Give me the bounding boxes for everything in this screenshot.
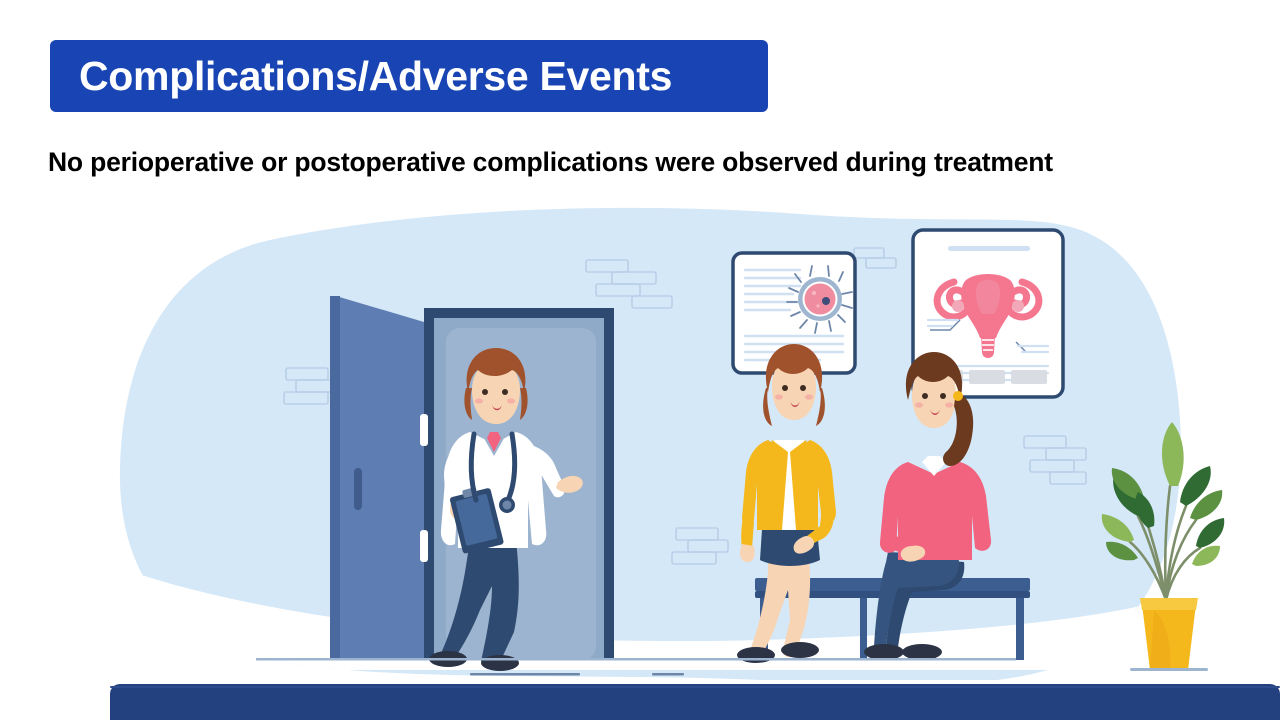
body-paragraph: No perioperative or postoperative compli… [48,146,1123,180]
slide-root: Complications/Adverse Events No perioper… [0,0,1280,720]
illustration [0,200,1280,680]
footer-bar-highlight [110,686,1280,688]
page-title: Complications/Adverse Events [79,53,672,100]
title-banner: Complications/Adverse Events [50,40,768,112]
floor-line [256,658,1016,661]
footer-bar [110,684,1280,720]
